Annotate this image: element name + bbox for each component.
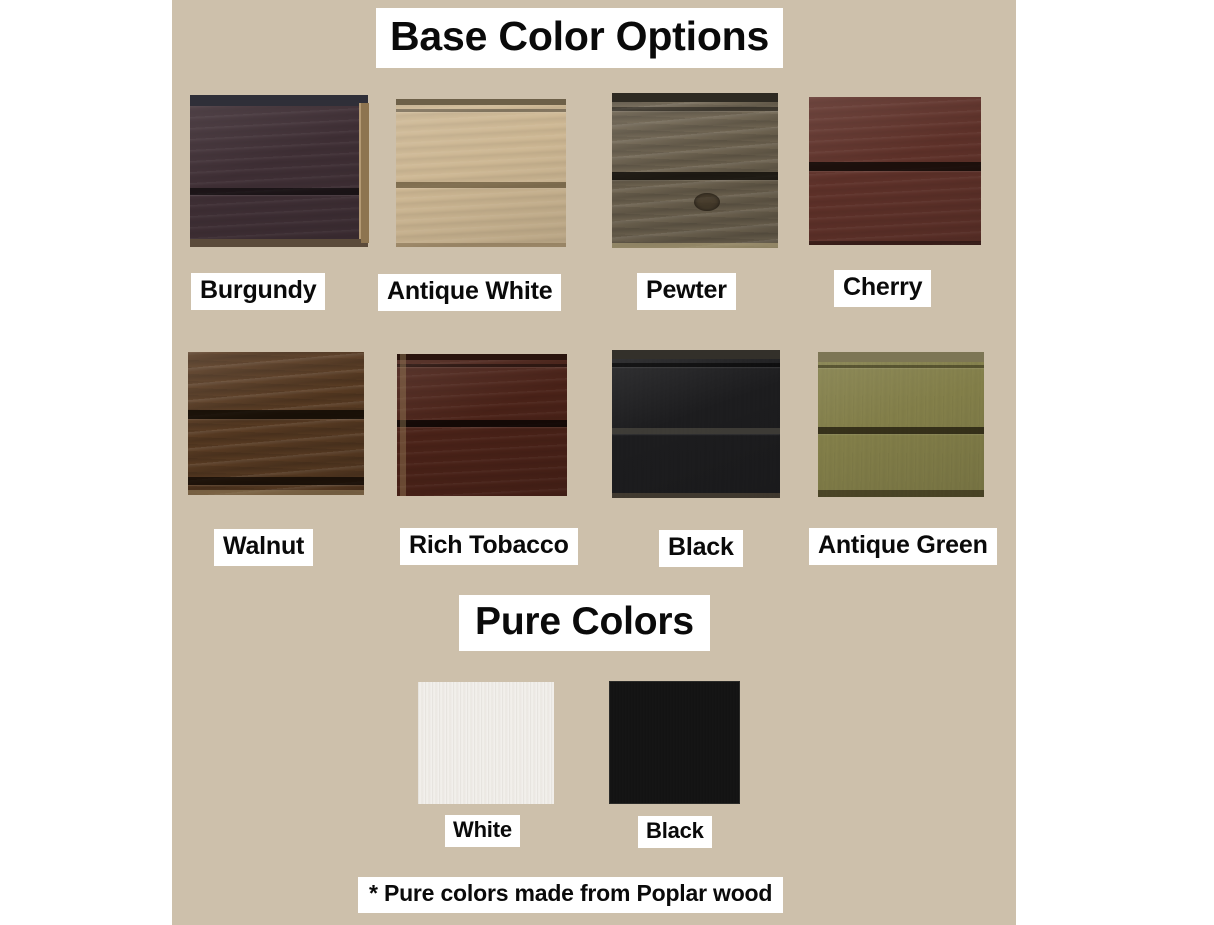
top-bevel xyxy=(190,95,368,106)
swatch-black-base[interactable] xyxy=(612,350,780,498)
panel-groove-top xyxy=(818,365,984,368)
section-title-pure-colors: Pure Colors xyxy=(459,595,710,651)
top-bevel xyxy=(396,99,566,105)
bottom-bevel xyxy=(188,490,364,495)
wood-knot xyxy=(694,193,720,211)
sheen-overlay xyxy=(190,95,368,247)
swatch-rich-tobacco[interactable] xyxy=(397,354,567,496)
panel-groove xyxy=(612,172,778,180)
page-title: Base Color Options xyxy=(376,8,783,68)
color-chart-board: Base Color Options Burgundy An xyxy=(172,0,1016,925)
swatch-label-black-base: Black xyxy=(659,530,743,567)
swatch-antique-green[interactable] xyxy=(818,352,984,497)
burgundy-side-edge xyxy=(361,103,369,243)
swatch-cherry[interactable] xyxy=(809,97,981,245)
bottom-bevel xyxy=(809,241,981,245)
bottom-bevel xyxy=(612,243,778,248)
panel-groove xyxy=(809,162,981,171)
panel-groove xyxy=(818,427,984,434)
swatch-label-pure-white: White xyxy=(445,815,520,847)
sheen-overlay xyxy=(818,352,984,497)
sheen-overlay xyxy=(612,93,778,248)
panel-groove-top xyxy=(612,107,778,111)
swatch-label-antique-white: Antique White xyxy=(378,274,561,311)
panel-groove-top xyxy=(612,363,780,367)
swatch-label-rich-tobacco: Rich Tobacco xyxy=(400,528,578,565)
bottom-bevel xyxy=(190,239,368,247)
sheen-overlay xyxy=(809,97,981,245)
swatch-burgundy[interactable] xyxy=(190,95,368,247)
top-bevel xyxy=(818,352,984,362)
swatch-label-walnut: Walnut xyxy=(214,529,313,566)
top-bevel xyxy=(397,354,567,360)
swatch-pewter[interactable] xyxy=(612,93,778,248)
swatch-label-pure-black: Black xyxy=(638,816,712,848)
grain-overlay xyxy=(418,682,554,804)
top-bevel xyxy=(612,350,780,359)
swatch-pure-black[interactable] xyxy=(609,681,740,804)
panel-groove-top xyxy=(396,109,566,112)
swatch-antique-white[interactable] xyxy=(396,99,566,247)
panel-groove xyxy=(396,182,566,188)
swatch-label-pewter: Pewter xyxy=(637,273,736,310)
panel-groove xyxy=(612,428,780,434)
panel-groove xyxy=(397,420,567,427)
swatch-walnut[interactable] xyxy=(188,352,364,495)
panel-groove xyxy=(190,188,368,195)
panel-groove-lower xyxy=(188,477,364,485)
sheen-overlay xyxy=(396,99,566,247)
bottom-bevel xyxy=(818,490,984,497)
swatch-label-cherry: Cherry xyxy=(834,270,931,307)
panel-groove xyxy=(188,410,364,419)
swatch-label-antique-green: Antique Green xyxy=(809,528,997,565)
top-bevel xyxy=(612,93,778,102)
panel-left-edge xyxy=(400,354,406,496)
swatch-pure-white[interactable] xyxy=(418,682,554,804)
swatch-label-burgundy: Burgundy xyxy=(191,273,325,310)
bottom-bevel xyxy=(396,243,566,247)
bottom-bevel xyxy=(612,493,780,498)
sheen-overlay xyxy=(612,350,780,498)
grain-overlay xyxy=(610,682,739,803)
footnote-text: * Pure colors made from Poplar wood xyxy=(358,877,783,913)
panel-groove-top xyxy=(397,364,567,367)
sheen-overlay xyxy=(188,352,364,495)
